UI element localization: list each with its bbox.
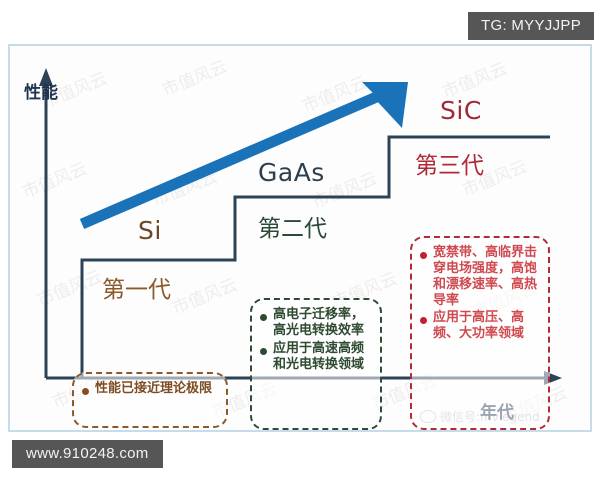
y-axis-label: 性能: [24, 84, 46, 102]
material-label-si: Si: [138, 216, 162, 245]
site-watermark-badge: www.910248.com: [12, 440, 163, 468]
feature-item: 应用于高压、高频、大功率领域: [418, 310, 541, 342]
generation-label-3: 第三代: [415, 146, 484, 180]
tg-watermark-badge: TG: MYYJJPP: [468, 12, 594, 40]
feature-list: 高电子迁移率，高光电转换效率 应用于高速高频和光电转换领域: [258, 307, 373, 372]
feature-item: 应用于高速高频和光电转换领域: [258, 341, 373, 373]
bullet-icon: [420, 252, 427, 259]
feature-box-gen1: 性能已接近理论极限: [72, 372, 228, 428]
feature-item: 高电子迁移率，高光电转换效率: [258, 307, 373, 339]
bullet-icon: [260, 314, 267, 321]
feature-item: 宽禁带、高临界击穿电场强度，高饱和漂移速率、高热导率: [418, 245, 541, 308]
feature-text: 性能已接近理论极限: [95, 381, 212, 397]
feature-text: 应用于高速高频和光电转换领域: [273, 341, 373, 373]
chart-frame: 市值风云 市值风云 市值风云 市值风云 市值风云 市值风云 市值风云 市值风云 …: [8, 44, 592, 432]
bullet-icon: [82, 388, 89, 395]
feature-list: 宽禁带、高临界击穿电场强度，高饱和漂移速率、高热导率 应用于高压、高频、大功率领…: [418, 245, 541, 342]
y-axis: [39, 68, 53, 378]
feature-text: 高电子迁移率，高光电转换效率: [273, 307, 373, 339]
feature-list: 性能已接近理论极限: [80, 381, 219, 397]
feature-box-gen2: 高电子迁移率，高光电转换效率 应用于高速高频和光电转换领域: [250, 298, 382, 430]
generation-label-2: 第二代: [258, 209, 327, 243]
feature-text: 应用于高压、高频、大功率领域: [433, 310, 541, 342]
generation-label-1: 第一代: [102, 270, 171, 304]
trend-arrow: [82, 82, 408, 224]
material-label-gaas: GaAs: [258, 158, 325, 187]
feature-item: 性能已接近理论极限: [80, 381, 219, 397]
feature-box-gen3: 宽禁带、高临界击穿电场强度，高饱和漂移速率、高热导率 应用于高压、高频、大功率领…: [410, 236, 550, 430]
feature-text: 宽禁带、高临界击穿电场强度，高饱和漂移速率、高热导率: [433, 245, 541, 308]
material-label-sic: SiC: [440, 96, 482, 125]
bullet-icon: [260, 348, 267, 355]
bullet-icon: [420, 317, 427, 324]
